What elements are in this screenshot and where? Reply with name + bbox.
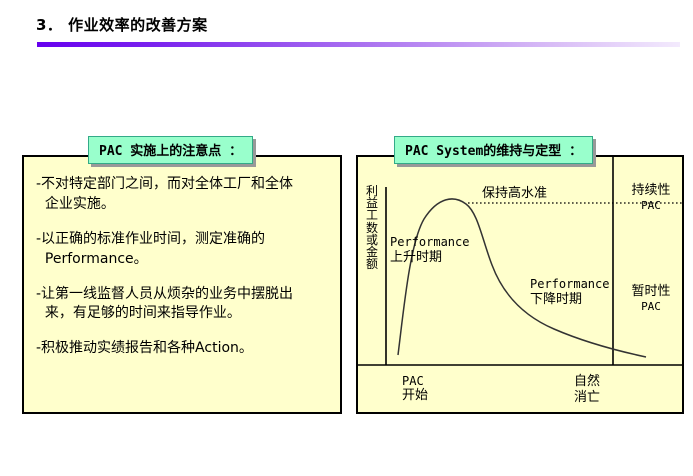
falling-phase-annotation: Performance 下降时期 [530, 277, 609, 308]
left-notes-panel: -不对特定部门之间，而对全体工厂和全体 企业实施。 -以正确的标准作业时间，测定… [22, 155, 342, 414]
x-axis-end-label: 自然 消亡 [574, 374, 600, 405]
list-item: -以正确的标准作业时间，测定准确的 Performance。 [36, 230, 332, 270]
region-label-sustained-pac: 持续性 PAC [620, 183, 682, 212]
pac-lifecycle-chart: 利 益 工 数 或 金 额 保持高水准 Performance 上升时期 Per… [358, 157, 682, 412]
rising-phase-en: Performance [390, 235, 469, 250]
list-item: -积极推动实绩报告和各种Action。 [36, 339, 332, 359]
falling-phase-en: Performance [530, 277, 609, 292]
y-axis-label: 利 益 工 数 或 金 额 [364, 185, 380, 271]
list-item: -让第一线监督人员从烦杂的业务中摆脱出 来，有足够的时间来指导作业。 [36, 285, 332, 325]
title-underline-rule [37, 42, 680, 47]
falling-phase-cn: 下降时期 [530, 292, 609, 308]
y-axis-char: 额 [364, 258, 380, 270]
list-item: -不对特定部门之间，而对全体工厂和全体 企业实施。 [36, 175, 332, 215]
region-label-temporary-title: 暂时性 [620, 284, 682, 300]
rising-phase-cn: 上升时期 [390, 250, 469, 266]
plateau-annotation: 保持高水准 [482, 182, 547, 201]
y-axis-char: 工 [364, 209, 380, 221]
x-axis-end-cn-1: 自然 [574, 374, 600, 390]
right-chart-panel: 利 益 工 数 或 金 额 保持高水准 Performance 上升时期 Per… [356, 155, 684, 414]
x-axis-start-en: PAC [402, 374, 428, 388]
x-axis-start-label: PAC 开始 [402, 374, 428, 404]
page-title: 3． 作业效率的改善方案 [36, 14, 208, 35]
left-panel-body: -不对特定部门之间，而对全体工厂和全体 企业实施。 -以正确的标准作业时间，测定… [36, 175, 332, 359]
region-label-sustained-title: 持续性 [620, 183, 682, 199]
left-panel-caption: PAC 实施上的注意点 ： [88, 136, 253, 164]
right-panel-caption: PAC System的维持与定型 ： [394, 136, 593, 164]
region-label-sustained-sub: PAC [620, 199, 682, 212]
region-label-temporary-sub: PAC [620, 300, 682, 313]
region-label-temporary-pac: 暂时性 PAC [620, 284, 682, 313]
x-axis-start-cn: 开始 [402, 388, 428, 404]
x-axis-end-cn-2: 消亡 [574, 390, 600, 406]
rising-phase-annotation: Performance 上升时期 [390, 235, 469, 266]
